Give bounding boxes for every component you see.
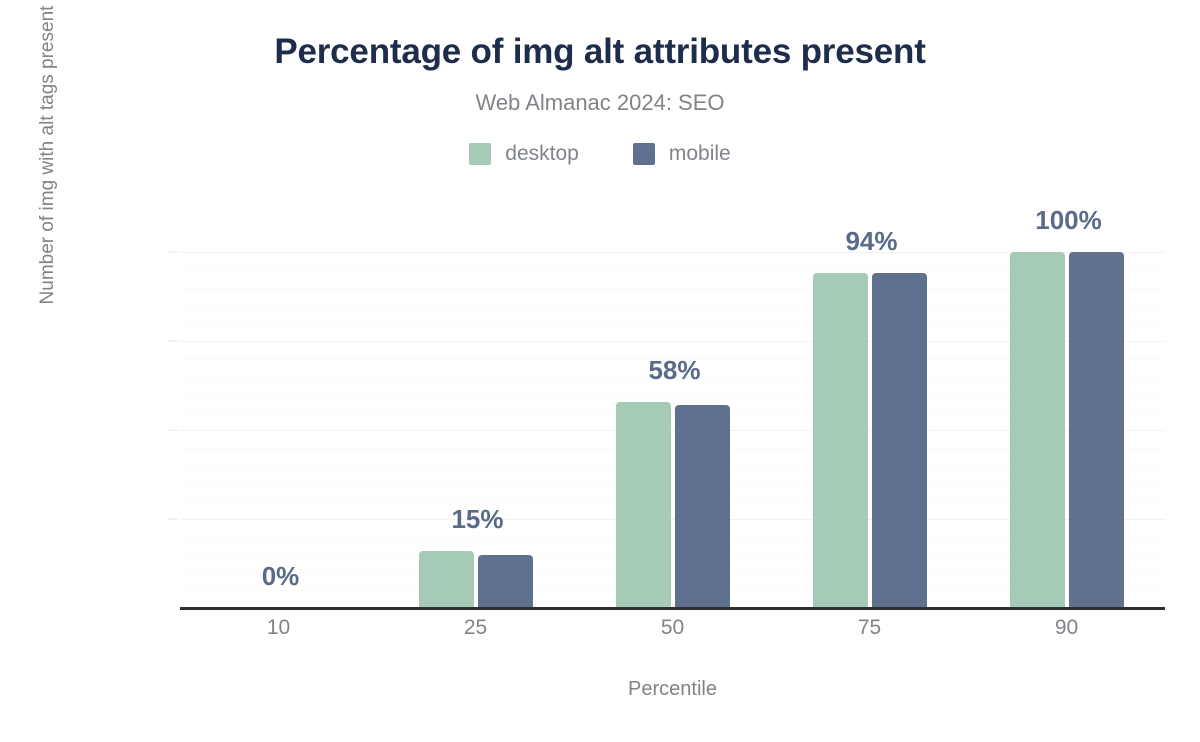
data-label-50: 58%: [648, 355, 700, 386]
data-label-25: 15%: [451, 504, 503, 535]
x-axis-title: Percentile: [180, 678, 1165, 701]
bar-mobile-50[interactable]: [675, 405, 730, 608]
bar-mobile-75[interactable]: [872, 273, 927, 608]
data-label-75: 94%: [845, 226, 897, 257]
x-tick-label: 50: [661, 616, 684, 640]
bar-desktop-75[interactable]: [813, 273, 868, 608]
legend-label: desktop: [505, 142, 579, 166]
legend-item-desktop[interactable]: desktop: [469, 142, 579, 166]
bar-mobile-25[interactable]: [478, 555, 533, 608]
chart-legend: desktopmobile: [0, 142, 1200, 166]
legend-label: mobile: [669, 142, 731, 166]
data-label-90: 100%: [1035, 205, 1102, 236]
y-axis-title: Number of img with alt tags present: [37, 0, 59, 335]
chart-title: Percentage of img alt attributes present: [0, 32, 1200, 72]
chart-subtitle: Web Almanac 2024: SEO: [0, 90, 1200, 116]
legend-swatch-desktop: [469, 143, 491, 165]
x-axis-baseline: [180, 607, 1165, 610]
x-tick-label: 75: [858, 616, 881, 640]
legend-item-mobile[interactable]: mobile: [633, 142, 731, 166]
bar-desktop-50[interactable]: [616, 402, 671, 608]
legend-swatch-mobile: [633, 143, 655, 165]
y-tick-mark: [168, 341, 178, 342]
bar-desktop-25[interactable]: [419, 551, 474, 608]
bar-desktop-90[interactable]: [1010, 252, 1065, 608]
y-tick-mark: [168, 430, 178, 431]
bar-mobile-90[interactable]: [1069, 252, 1124, 608]
bars-layer: 0%15%58%94%100%: [180, 252, 1165, 608]
y-tick-mark: [168, 519, 178, 520]
x-tick-label: 10: [267, 616, 290, 640]
x-tick-label: 90: [1055, 616, 1078, 640]
bar-chart: Percentage of img alt attributes present…: [0, 0, 1200, 742]
data-label-10: 0%: [262, 561, 300, 592]
x-tick-label: 25: [464, 616, 487, 640]
y-tick-mark: [168, 252, 178, 253]
x-axis-ticks: 1025507590: [180, 616, 1165, 650]
